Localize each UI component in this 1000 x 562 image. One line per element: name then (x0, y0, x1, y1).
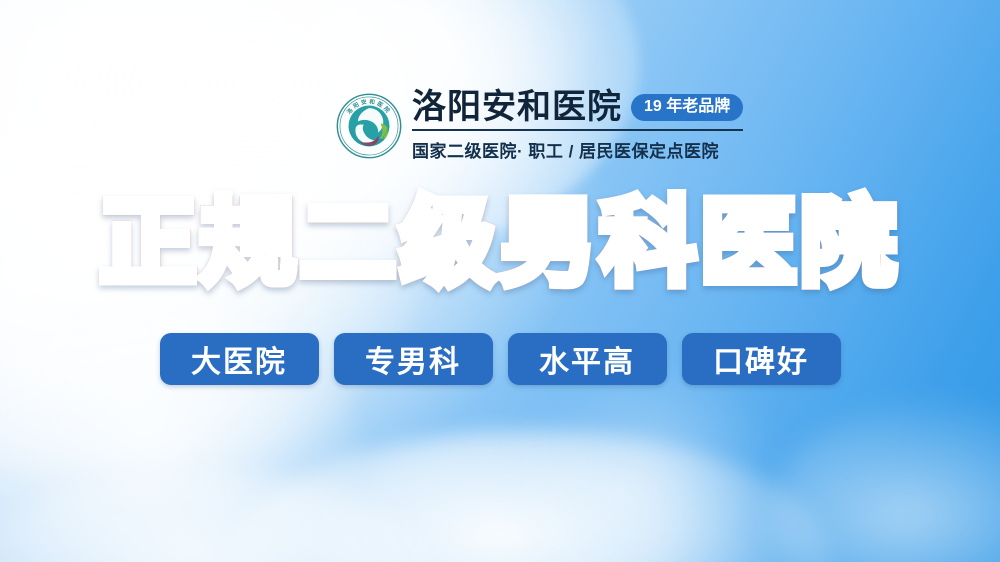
brand-text-block: 洛阳安和医院 19 年老品牌 国家二级医院· 职工 / 居民医保定点医院 (412, 90, 743, 162)
logo-lockup: 洛阳安和医院 LUOYANG ANHE HOSPITAL 洛阳安和医院 19 年… (336, 90, 743, 162)
hospital-seal-icon: 洛阳安和医院 LUOYANG ANHE HOSPITAL (336, 93, 402, 159)
cloud-bottom-left (0, 470, 440, 562)
cloud-bottom-center (230, 430, 830, 562)
cloud-right-wisp (770, 400, 1000, 562)
brand-name: 洛阳安和医院 (412, 90, 622, 126)
brand-subtitle: 国家二级医院· 职工 / 居民医保定点医院 (412, 137, 743, 162)
feature-badge-1: 大医院 (160, 333, 319, 385)
brand-name-row: 洛阳安和医院 19 年老品牌 (412, 90, 743, 131)
years-badge: 19 年老品牌 (631, 94, 743, 121)
feature-badge-4: 口碑好 (682, 333, 841, 385)
hospital-promo-banner: 洛阳安和医院 LUOYANG ANHE HOSPITAL 洛阳安和医院 19 年… (0, 0, 1000, 562)
feature-badge-3: 水平高 (508, 333, 667, 385)
headline: 正规二级男科医院 (0, 196, 1000, 292)
feature-badge-2: 专男科 (334, 333, 493, 385)
feature-badge-row: 大医院 专男科 水平高 口碑好 (0, 333, 1000, 385)
